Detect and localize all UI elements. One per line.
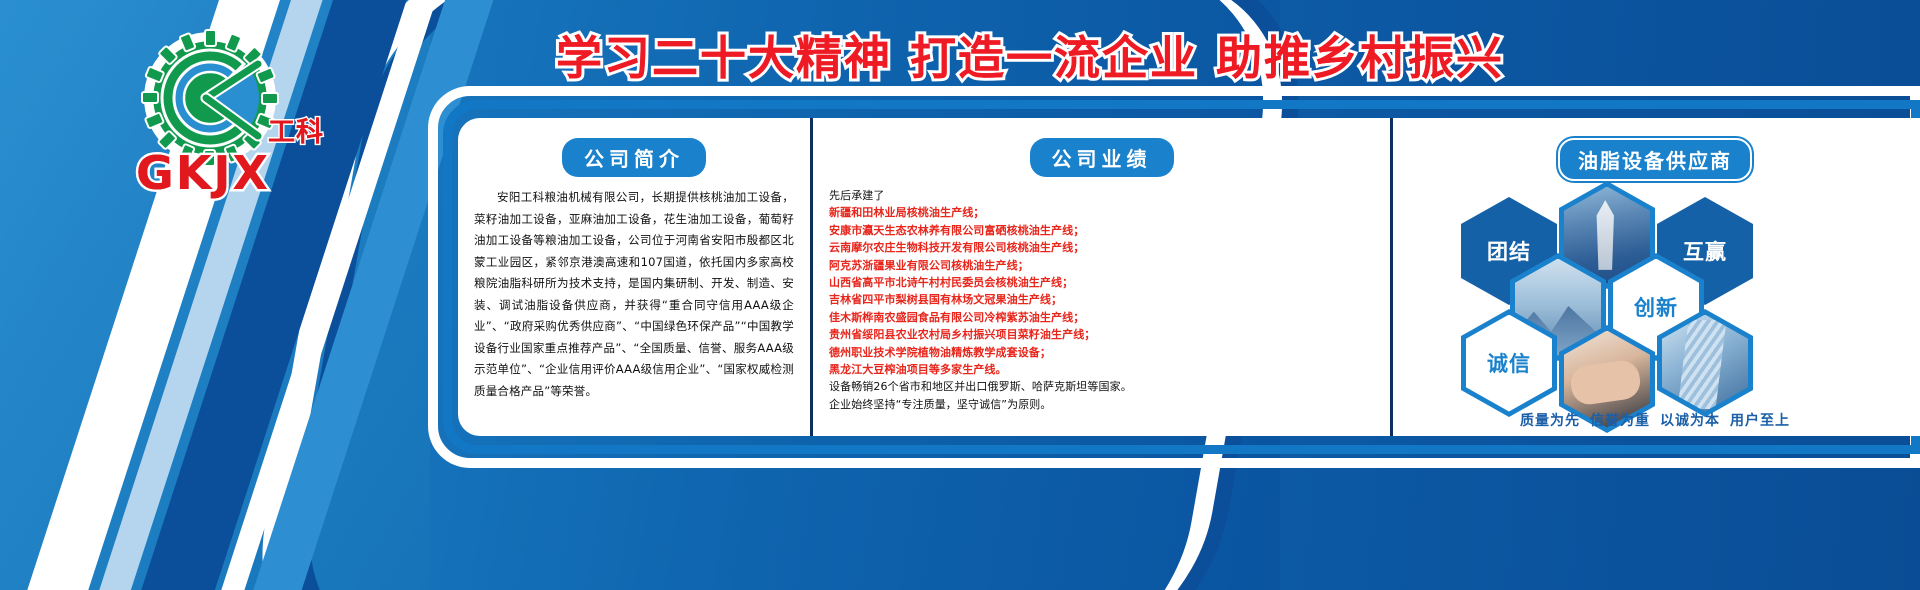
hexagon-label: 诚信 — [1487, 348, 1531, 378]
content-card: 公司简介 安阳工科粮油机械有限公司，长期提供核桃油加工设备，菜籽油加工设备，亚麻… — [458, 118, 1920, 436]
performance-project-item: 德州职业技术学院植物油精炼教学成套设备； — [829, 344, 1374, 361]
supplier-slogan: 质量为先信誉为重以诚为本用户至上 — [1393, 410, 1917, 430]
hexagon-label: 创新 — [1634, 292, 1678, 322]
panel-1-body: 安阳工科粮油机械有限公司，长期提供核桃油加工设备，菜籽油加工设备，亚麻油加工设备… — [474, 187, 794, 402]
company-logo: 工科 工科 GKJX GKJX — [118, 28, 348, 208]
logo-cn-text: 工科 — [268, 110, 324, 149]
slogan-phrase: 用户至上 — [1730, 413, 1790, 429]
hexagon-grid: 团结互赢创新诚信 — [1409, 191, 1901, 406]
performance-project-item: 安康市瀛天生态农林养有限公司富硒核桃油生产线； — [829, 222, 1374, 239]
hexagon-inner: 诚信 — [1466, 315, 1552, 412]
performance-footer-line: 企业始终坚持“专注质量，坚守诚信”为原则。 — [829, 396, 1374, 413]
performance-project-item: 阿克苏浙疆果业有限公司核桃油生产线； — [829, 257, 1374, 274]
bottom-left-background — [0, 442, 458, 590]
panel-3-badge: 油脂设备供应商 — [1558, 138, 1752, 181]
logo-en-text: GKJX — [136, 146, 270, 200]
poster-canvas: 工科 工科 GKJX GKJX 学习二十大精神 打造一流企业 助推乡村振兴 学习… — [0, 0, 1920, 590]
performance-footer-line: 设备畅销26个省市和地区并出口俄罗斯、哈萨克斯坦等国家。 — [829, 378, 1374, 395]
slogan-phrase: 以诚为本 — [1660, 413, 1720, 429]
tower-photo — [1662, 315, 1748, 412]
performance-footer: 设备畅销26个省市和地区并出口俄罗斯、哈萨克斯坦等国家。企业始终坚持“专注质量，… — [829, 378, 1374, 413]
panel-company-profile: 公司简介 安阳工科粮油机械有限公司，长期提供核桃油加工设备，菜籽油加工设备，亚麻… — [458, 118, 810, 436]
performance-project-item: 新疆和田林业局核桃油生产线； — [829, 204, 1374, 221]
hexagon-label: 团结 — [1487, 236, 1531, 266]
panel-supplier: 油脂设备供应商 团结互赢创新诚信 质量为先信誉为重以诚为本用户至上 — [1390, 118, 1917, 436]
performance-intro: 先后承建了 — [829, 187, 1374, 204]
performance-project-item: 贵州省绥阳县农业农村局乡村振兴项目菜籽油生产线； — [829, 326, 1374, 343]
performance-project-item: 云南摩尔农庄生物科技开发有限公司核桃油生产线； — [829, 239, 1374, 256]
panel-2-badge: 公司业绩 — [1030, 138, 1174, 177]
performance-project-item: 山西省高平市北诗午村村民委员会核桃油生产线； — [829, 274, 1374, 291]
performance-project-item: 黑龙江大豆榨油项目等多家生产线。 — [829, 361, 1374, 378]
performance-project-list: 新疆和田林业局核桃油生产线；安康市瀛天生态农林养有限公司富硒核桃油生产线；云南摩… — [829, 204, 1374, 378]
performance-project-item: 吉林省四平市梨树县国有林场文冠果油生产线； — [829, 291, 1374, 308]
headline-text: 学习二十大精神 打造一流企业 助推乡村振兴 — [430, 22, 1630, 88]
panel-1-badge: 公司简介 — [562, 138, 706, 177]
panel-company-performance: 公司业绩 先后承建了 新疆和田林业局核桃油生产线；安康市瀛天生态农林养有限公司富… — [810, 118, 1390, 436]
slogan-phrase: 信誉为重 — [1590, 413, 1650, 429]
slogan-phrase: 质量为先 — [1520, 413, 1580, 429]
performance-project-item: 佳木斯桦南农盛园食品有限公司冷榨紫苏油生产线； — [829, 309, 1374, 326]
hexagon-label: 互赢 — [1683, 236, 1727, 266]
